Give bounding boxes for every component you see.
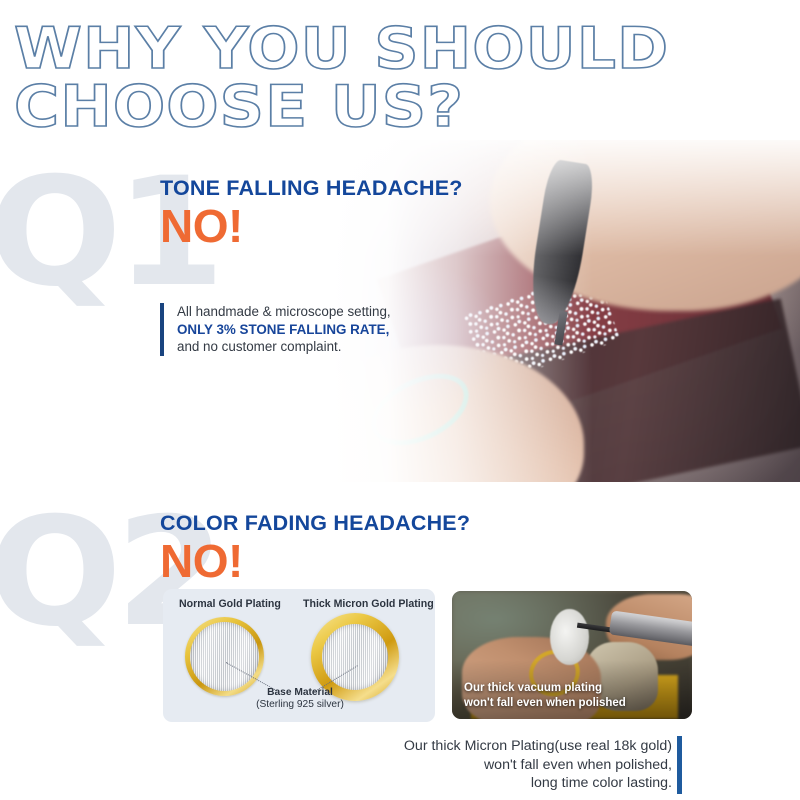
q2-note-line-2: won't fall even when polished, bbox=[404, 756, 672, 775]
q2-photo-caption-line-1: Our thick vacuum plating bbox=[464, 681, 626, 696]
q2-answer: NO! bbox=[160, 538, 243, 584]
base-material-sub: (Sterling 925 silver) bbox=[225, 699, 375, 711]
q2-note-line-3: long time color lasting. bbox=[404, 774, 672, 793]
q2-photo-polishing: Our thick vacuum plating won't fall even… bbox=[452, 591, 692, 719]
normal-plating-diagram-icon bbox=[185, 617, 264, 696]
normal-plating-label: Normal Gold Plating bbox=[179, 598, 281, 610]
q2-bottom-note: Our thick Micron Plating(use real 18k go… bbox=[404, 737, 672, 793]
promo-infographic: WHY YOU SHOULD CHOOSE US? Q1 TONE FALLIN… bbox=[0, 0, 800, 800]
photo-polishing-disc bbox=[550, 609, 588, 665]
q1-quote-line-2: ONLY 3% STONE FALLING RATE, bbox=[177, 322, 389, 337]
gold-plating-comparison-panel: Normal Gold Plating Thick Micron Gold Pl… bbox=[163, 589, 435, 722]
q2-photo-caption: Our thick vacuum plating won't fall even… bbox=[464, 681, 626, 710]
q1-quote-line-1: All handmade & microscope setting, bbox=[177, 303, 391, 321]
base-material-label: Base Material (Sterling 925 silver) bbox=[225, 687, 375, 712]
q1-quote-line-3: and no customer complaint. bbox=[177, 338, 391, 356]
q1-heading: TONE FALLING HEADACHE? bbox=[160, 176, 463, 201]
thick-plating-label: Thick Micron Gold Plating bbox=[303, 598, 434, 610]
headline-line-2: CHOOSE US? bbox=[14, 84, 770, 130]
base-material-title: Base Material bbox=[225, 687, 375, 699]
bottom-accent-bar bbox=[677, 736, 682, 794]
page-title: WHY YOU SHOULD CHOOSE US? bbox=[14, 26, 714, 130]
q2-note-line-1: Our thick Micron Plating(use real 18k go… bbox=[404, 737, 672, 756]
headline-line-1: WHY YOU SHOULD bbox=[14, 26, 770, 72]
q1-answer: NO! bbox=[160, 203, 243, 249]
q2-heading: COLOR FADING HEADACHE? bbox=[160, 511, 470, 536]
q1-quote-block: All handmade & microscope setting, ONLY … bbox=[160, 303, 391, 356]
q2-photo-caption-line-2: won't fall even when polished bbox=[464, 696, 626, 711]
base-material-core bbox=[190, 622, 259, 691]
